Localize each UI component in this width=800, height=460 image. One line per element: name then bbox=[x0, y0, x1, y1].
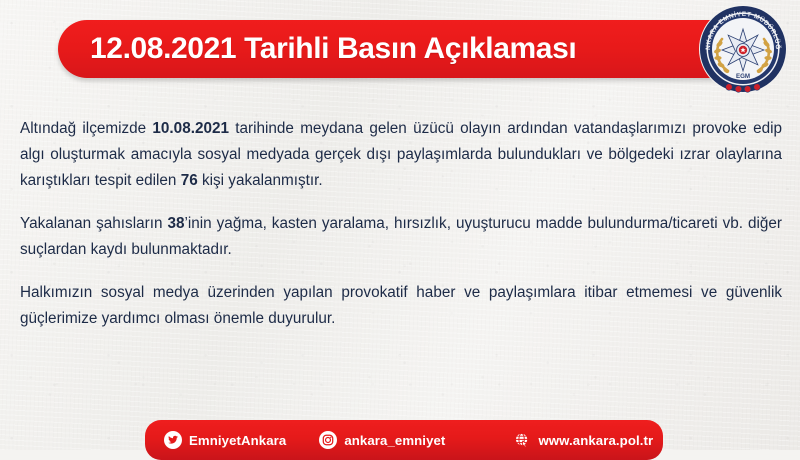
press-release-body: Altındağ ilçemizde 10.08.2021 tarihinde … bbox=[20, 116, 782, 332]
paragraph-2: Yakalanan şahısların 38’inin yağma, kast… bbox=[20, 211, 782, 263]
page-title: 12.08.2021 Tarihli Basın Açıklaması bbox=[90, 20, 690, 78]
paragraph-1: Altındağ ilçemizde 10.08.2021 tarihinde … bbox=[20, 116, 782, 194]
instagram-icon bbox=[319, 431, 337, 449]
svg-text:EGM: EGM bbox=[736, 73, 750, 80]
twitter-icon bbox=[164, 431, 182, 449]
paragraph-3: Halkımızın sosyal medya üzerinden yapıla… bbox=[20, 280, 782, 332]
social-link-twitter[interactable]: EmniyetAnkara bbox=[164, 431, 286, 449]
social-label-twitter: EmniyetAnkara bbox=[189, 433, 286, 448]
social-label-website: www.ankara.pol.tr bbox=[538, 433, 653, 448]
globe-web-icon bbox=[513, 431, 531, 449]
social-footer-bar: EmniyetAnkara ankara_emniyet bbox=[145, 420, 663, 460]
social-link-website[interactable]: www.ankara.pol.tr bbox=[513, 431, 653, 449]
press-release-page: 12.08.2021 Tarihli Basın Açıklaması ANKA… bbox=[0, 0, 800, 450]
ankara-police-emblem-icon: ANKARA EMNİYET MÜDÜRLÜĞÜ bbox=[697, 3, 789, 95]
social-label-instagram: ankara_emniyet bbox=[344, 433, 445, 448]
social-link-instagram[interactable]: ankara_emniyet bbox=[319, 431, 445, 449]
